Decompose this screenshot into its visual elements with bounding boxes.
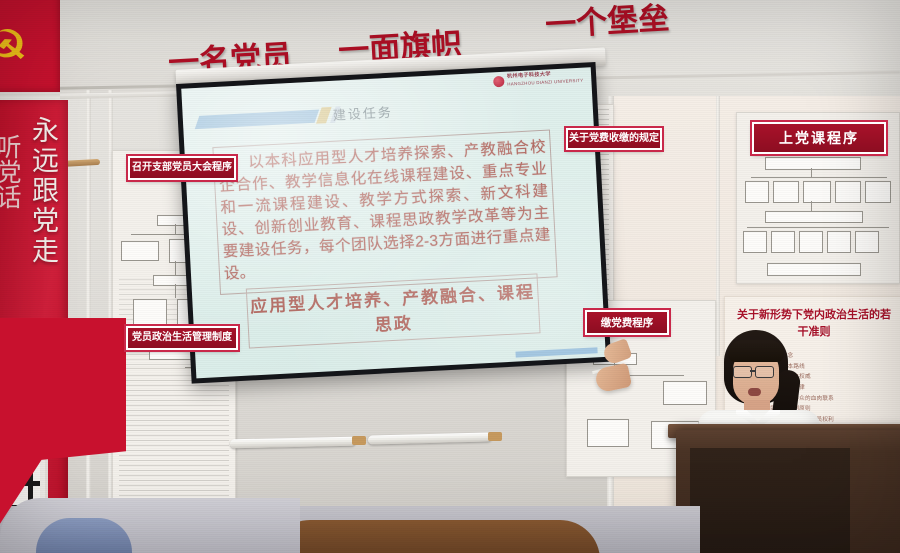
flow-node [865,181,891,203]
board-title-text: 关于党费收缴的规定 [568,132,660,146]
flow-node [767,263,861,276]
flow-node [765,211,863,223]
flow-node [765,157,861,170]
flow-node [587,419,629,447]
flow-node [835,181,861,203]
flow-connector [175,261,176,275]
podium-front-panel [690,448,850,553]
flow-connector [751,177,887,178]
flow-node [803,181,831,203]
projected-slide: 杭州电子科技大学 HANGZHOU DIANZI UNIVERSITY 建设任务… [181,67,606,378]
school-crest-icon [493,76,505,88]
eyeglasses-bridge [750,370,755,372]
ceiling-slogan-3: 一个堡垒 [544,0,670,44]
eyeglasses-icon [733,366,752,378]
slide-body-text: 以本科应用型人才培养探索、产教融合校企合作、教学信息化在线课程建设、重点专业和一… [213,131,556,294]
title-blue-shape [195,110,319,130]
flow-node [799,231,823,253]
flow-node [743,231,767,253]
hammer-sickle-icon: ☭ [0,24,44,76]
flow-connector [175,224,176,234]
eyeglasses-icon [755,366,774,378]
party-emblem-banner: ☭ [0,0,60,92]
flow-connector [175,284,176,298]
slide-logo-text: 杭州电子科技大学 HANGZHOU DIANZI UNIVERSITY [507,70,584,88]
flow-connector [811,201,812,211]
scroll-rod-cap [352,436,366,445]
flow-connector [811,168,812,177]
board-title-party-lecture-procedure: 上党课程序 [752,122,886,154]
flow-node [827,231,851,253]
board-title-party-dues-regulation: 关于党费收缴的规定 [566,128,662,150]
board-title-text: 缴党费程序 [587,315,667,330]
slide-title: 建设任务 [332,102,393,124]
banner-secondary-text: 听党话 [0,134,22,209]
presenter-fringe [728,340,784,362]
wall-seam [86,90,91,530]
scroll-rod-cap [488,432,502,441]
board-title-dues-payment-procedure: 缴党费程序 [585,310,669,335]
board-title-text: 召开支部党员大会程序 [130,161,234,175]
flow-connector [747,227,889,228]
board-title-text: 党员政治生活管理制度 [128,331,236,345]
slide-logo: 杭州电子科技大学 HANGZHOU DIANZI UNIVERSITY [493,70,584,89]
flow-node [121,241,159,261]
slide-body-box: 以本科应用型人才培养探索、产教融合校企合作、教学信息化在线课程建设、重点专业和一… [212,129,557,294]
board-title-text: 上党课程序 [754,128,884,148]
slide-accent-bar [515,347,597,357]
board-title-political-life-system: 党员政治生活管理制度 [126,326,238,350]
foreground-chair [36,518,132,553]
flow-node [855,231,879,253]
flow-node [745,181,769,203]
presenter-mouth [748,388,761,396]
projector-screen-frame: 杭州电子科技大学 HANGZHOU DIANZI UNIVERSITY 建设任务… [176,62,611,384]
banner-main-text: 永远跟党走 [20,116,60,266]
classroom-presentation-scene: 召开支部党员大会程序 党员政治生活管理制度 关于党费收缴的规定 缴党费程序 [0,0,900,553]
foreground-table [270,520,600,553]
flow-node [771,231,795,253]
wall-seam [716,96,720,356]
board-title-branch-meeting: 召开支部党员大会程序 [128,156,236,180]
flow-node [773,181,799,203]
slide-keypoints-text: 应用型人才培养、产教融合、课程思政 [247,274,540,347]
